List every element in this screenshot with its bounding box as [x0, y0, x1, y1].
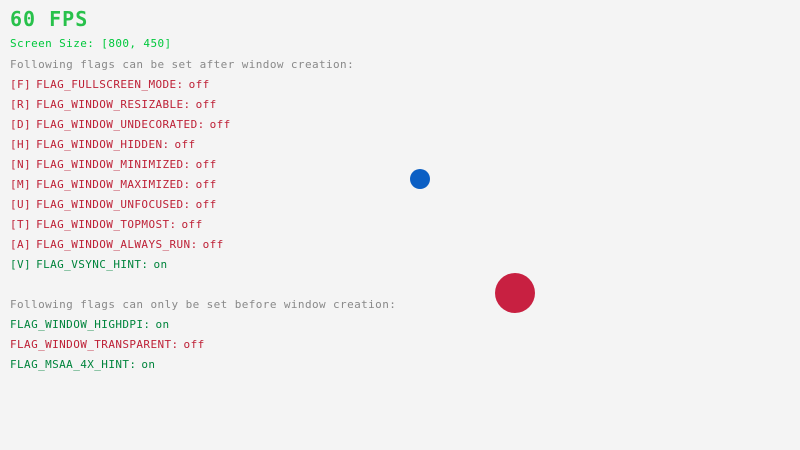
flag-name: FLAG_WINDOW_TRANSPARENT:: [10, 338, 179, 351]
flag-key: [H]: [10, 138, 31, 151]
flag-name: FLAG_WINDOW_MINIMIZED:: [36, 158, 191, 171]
flag-key: [D]: [10, 118, 31, 131]
flag-name: FLAG_MSAA_4X_HINT:: [10, 358, 136, 371]
flag-row[interactable]: [R]FLAG_WINDOW_RESIZABLE:off: [10, 98, 410, 118]
flag-value: off: [196, 178, 217, 191]
flag-row[interactable]: [T]FLAG_WINDOW_TOPMOST:off: [10, 218, 410, 238]
flag-value: off: [182, 218, 203, 231]
flag-name: FLAG_WINDOW_UNFOCUSED:: [36, 198, 191, 211]
flag-row[interactable]: [V]FLAG_VSYNC_HINT:on: [10, 258, 410, 278]
flag-value: off: [184, 338, 205, 351]
flag-name: FLAG_WINDOW_UNDECORATED:: [36, 118, 205, 131]
flag-name: FLAG_WINDOW_ALWAYS_RUN:: [36, 238, 198, 251]
flag-key: [V]: [10, 258, 31, 271]
flag-row[interactable]: [A]FLAG_WINDOW_ALWAYS_RUN:off: [10, 238, 410, 258]
flag-name: FLAG_WINDOW_MAXIMIZED:: [36, 178, 191, 191]
flag-row[interactable]: [N]FLAG_WINDOW_MINIMIZED:off: [10, 158, 410, 178]
flag-value: off: [175, 138, 196, 151]
flag-value: off: [210, 118, 231, 131]
flag-value: on: [141, 358, 155, 371]
flag-value: on: [153, 258, 167, 271]
flag-row[interactable]: FLAG_MSAA_4X_HINT:on: [10, 358, 410, 378]
flag-row[interactable]: FLAG_WINDOW_HIGHDPI:on: [10, 318, 410, 338]
flag-name: FLAG_WINDOW_TOPMOST:: [36, 218, 176, 231]
flag-name: FLAG_FULLSCREEN_MODE:: [36, 78, 183, 91]
flag-key: [A]: [10, 238, 31, 251]
bouncing-ball-blue: [410, 169, 430, 189]
flag-key: [U]: [10, 198, 31, 211]
flag-key: [T]: [10, 218, 31, 231]
flag-key: [R]: [10, 98, 31, 111]
screen-size-readout: Screen Size: [800, 450]: [10, 37, 172, 50]
flag-row[interactable]: [D]FLAG_WINDOW_UNDECORATED:off: [10, 118, 410, 138]
flag-key: [F]: [10, 78, 31, 91]
bouncing-ball-red: [495, 273, 535, 313]
flag-row[interactable]: [H]FLAG_WINDOW_HIDDEN:off: [10, 138, 410, 158]
raylib-window: 60 FPS Screen Size: [800, 450] Following…: [0, 0, 800, 450]
section-header-before-creation: Following flags can only be set before w…: [10, 298, 396, 311]
flag-name: FLAG_WINDOW_HIDDEN:: [36, 138, 169, 151]
flag-list-before-creation: FLAG_WINDOW_HIGHDPI:onFLAG_WINDOW_TRANSP…: [10, 318, 410, 378]
flag-value: on: [155, 318, 169, 331]
flag-value: off: [196, 98, 217, 111]
flag-value: off: [203, 238, 224, 251]
flag-key: [N]: [10, 158, 31, 171]
flag-name: FLAG_WINDOW_HIGHDPI:: [10, 318, 150, 331]
flag-value: off: [196, 198, 217, 211]
section-header-after-creation: Following flags can be set after window …: [10, 58, 354, 71]
fps-counter: 60 FPS: [10, 7, 88, 31]
flag-name: FLAG_VSYNC_HINT:: [36, 258, 148, 271]
flag-row[interactable]: [F]FLAG_FULLSCREEN_MODE:off: [10, 78, 410, 98]
flag-list-after-creation: [F]FLAG_FULLSCREEN_MODE:off[R]FLAG_WINDO…: [10, 78, 410, 278]
flag-name: FLAG_WINDOW_RESIZABLE:: [36, 98, 191, 111]
flag-value: off: [189, 78, 210, 91]
flag-row[interactable]: FLAG_WINDOW_TRANSPARENT:off: [10, 338, 410, 358]
flag-value: off: [196, 158, 217, 171]
flag-row[interactable]: [M]FLAG_WINDOW_MAXIMIZED:off: [10, 178, 410, 198]
flag-key: [M]: [10, 178, 31, 191]
flag-row[interactable]: [U]FLAG_WINDOW_UNFOCUSED:off: [10, 198, 410, 218]
